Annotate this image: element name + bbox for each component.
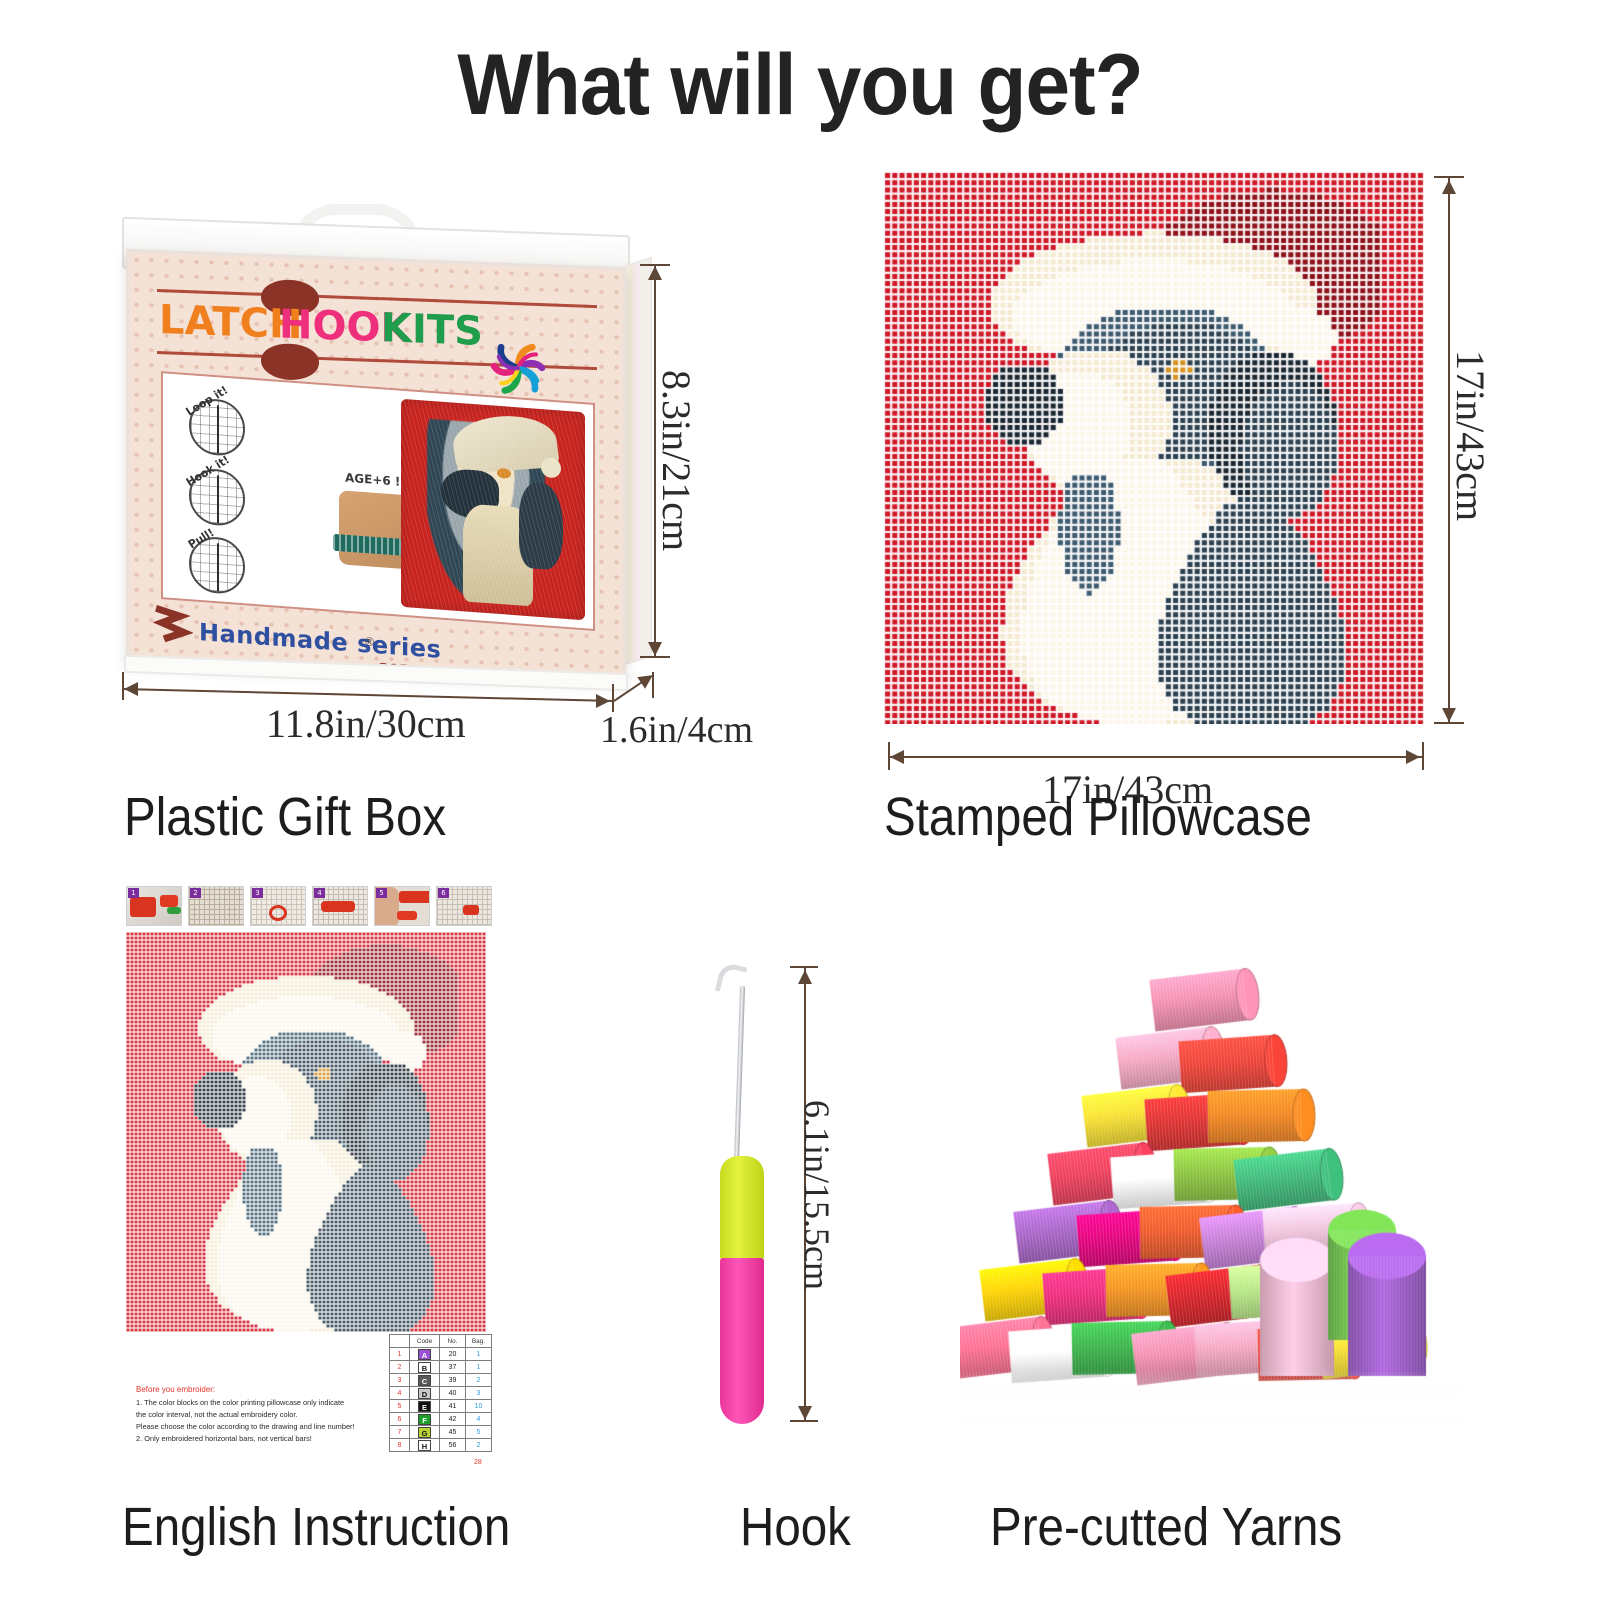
th-index <box>390 1335 410 1348</box>
color-table-row: 4D403 <box>390 1387 492 1400</box>
note-line-3: Please choose the color according to the… <box>136 1422 355 1431</box>
thumb-badge-1: 1 <box>128 888 139 898</box>
instruction-caption: English Instruction <box>122 1496 510 1558</box>
giftbox-width-arrow-right <box>596 694 610 708</box>
giftbox-height-arrow-down <box>648 642 662 656</box>
instruction-chart-canvas <box>126 932 486 1332</box>
row-no: 45 <box>440 1426 466 1439</box>
row-bag: 3 <box>466 1387 492 1400</box>
row-code: H <box>410 1439 440 1452</box>
instruction-thumb-4: 4 <box>312 886 368 926</box>
color-table-row: 6F424 <box>390 1413 492 1426</box>
row-bag: 10 <box>466 1400 492 1413</box>
hook-needle <box>734 986 745 1164</box>
color-swatch: A <box>418 1349 431 1360</box>
row-no: 40 <box>440 1387 466 1400</box>
thumb-badge-3: 3 <box>252 888 263 898</box>
gift-box-panel: LATCH HOOK KITS <box>108 196 653 696</box>
instruction-thumb-6: 6 <box>436 886 492 926</box>
row-bag: 1 <box>466 1348 492 1361</box>
hook-dim-tick-bottom <box>790 1420 818 1422</box>
row-bag: 2 <box>466 1374 492 1387</box>
pillow-width-line <box>888 756 1422 758</box>
yarns-caption: Pre-cutted Yarns <box>990 1496 1342 1558</box>
color-table-row: 1A201 <box>390 1348 492 1361</box>
thumb-badge-5: 5 <box>376 888 387 898</box>
pillowcase-caption: Stamped Pillowcase <box>884 786 1312 848</box>
row-index: 4 <box>390 1387 410 1400</box>
row-code: C <box>410 1374 440 1387</box>
pillow-width-arrow-left <box>890 750 904 764</box>
giftbox-height-arrow-up <box>648 266 662 280</box>
row-bag: 1 <box>466 1361 492 1374</box>
pillow-height-label: 17in/43cm <box>1447 350 1494 521</box>
row-index: 8 <box>390 1439 410 1452</box>
finished-pillow-artwork <box>401 399 585 620</box>
hook-dim-arrow-down <box>798 1406 812 1420</box>
row-index: 7 <box>390 1426 410 1439</box>
pillow-width-tick-right <box>1422 742 1424 770</box>
giftbox-width-label: 11.8in/30cm <box>266 700 466 747</box>
row-index: 5 <box>390 1400 410 1413</box>
row-index: 1 <box>390 1348 410 1361</box>
color-swatch: E <box>418 1401 431 1412</box>
english-instruction-panel: 1 2 3 4 5 6 <box>124 886 496 1466</box>
instruction-thumb-2: 2 <box>188 886 244 926</box>
row-code: D <box>410 1387 440 1400</box>
registered-mark: ® <box>365 634 374 649</box>
color-table-row: 8H562 <box>390 1439 492 1452</box>
box-front-face: LATCH HOOK KITS <box>126 249 626 679</box>
color-table-row: 5E4110 <box>390 1400 492 1413</box>
pillow-height-arrow-down <box>1442 708 1456 722</box>
th-no: No. <box>440 1335 466 1348</box>
instruction-thumb-3: 3 <box>250 886 306 926</box>
color-swatch: C <box>418 1375 431 1386</box>
thumb-badge-2: 2 <box>190 888 201 898</box>
row-index: 6 <box>390 1413 410 1426</box>
instruction-thumb-5: 5 <box>374 886 430 926</box>
row-index: 3 <box>390 1374 410 1387</box>
th-code: Code <box>410 1335 440 1348</box>
row-code: A <box>410 1348 440 1361</box>
color-swatch: G <box>418 1427 431 1438</box>
row-no: 39 <box>440 1374 466 1387</box>
stamped-pillowcase-canvas <box>884 172 1424 724</box>
color-table-total: 28 <box>474 1459 482 1466</box>
row-bag: 4 <box>466 1413 492 1426</box>
color-table-row: 2B371 <box>390 1361 492 1374</box>
row-no: 42 <box>440 1413 466 1426</box>
hook-dim-label: 6.1in/15.5cm <box>796 1100 838 1290</box>
pillow-width-arrow-right <box>1406 750 1420 764</box>
row-index: 2 <box>390 1361 410 1374</box>
instruction-thumb-1: 1 <box>126 886 182 926</box>
giftbox-height-label: 8.3in/21cm <box>653 370 700 551</box>
color-code-table: Code No. Bag. 1A2012B3713C3924D4035E4110… <box>389 1334 492 1452</box>
hook-handle-lower <box>720 1258 764 1424</box>
row-code: B <box>410 1361 440 1374</box>
page-title: What will you get? <box>56 36 1544 135</box>
row-code: G <box>410 1426 440 1439</box>
box-illustration-panel: Loop it! Hook it! Pull! AGE+6 ! <box>161 371 595 631</box>
row-no: 41 <box>440 1400 466 1413</box>
age-label: AGE+6 ! <box>345 471 400 489</box>
row-bag: 5 <box>466 1426 492 1439</box>
note-line-2: the color interval, not the actual embro… <box>136 1410 297 1419</box>
row-bag: 2 <box>466 1439 492 1452</box>
row-code: E <box>410 1400 440 1413</box>
note-heading: Before you embroider: <box>136 1384 386 1397</box>
color-swatch: H <box>418 1440 431 1451</box>
infographic-page: What will you get? LATCH HOOK KITS <box>0 0 1600 1600</box>
instruction-note: Before you embroider: 1. The color block… <box>136 1384 386 1445</box>
color-swatch: B <box>418 1362 431 1373</box>
note-line-4: 2. Only embroidered horizontal bars, not… <box>136 1434 312 1443</box>
row-no: 37 <box>440 1361 466 1374</box>
th-bag: Bag. <box>466 1335 492 1348</box>
pillow-height-arrow-up <box>1442 180 1456 194</box>
note-line-1: 1. The color blocks on the color printin… <box>136 1398 344 1407</box>
thumb-badge-4: 4 <box>314 888 325 898</box>
hook-handle-upper <box>720 1156 764 1260</box>
gift-box-caption: Plastic Gift Box <box>124 786 446 848</box>
row-code: F <box>410 1413 440 1426</box>
color-table-row: 7G455 <box>390 1426 492 1439</box>
row-no: 20 <box>440 1348 466 1361</box>
brand-word-kits: KITS <box>381 305 483 355</box>
hook-caption: Hook <box>740 1496 851 1558</box>
pinwheel-logo-icon <box>487 337 549 399</box>
thumb-badge-6: 6 <box>438 888 449 898</box>
color-swatch: F <box>418 1414 431 1425</box>
giftbox-height-tick-bottom <box>640 656 670 658</box>
giftbox-width-arrow-left <box>124 682 138 696</box>
color-swatch: D <box>418 1388 431 1399</box>
giftbox-depth-label: 1.6in/4cm <box>600 708 753 752</box>
table-header-row: Code No. Bag. <box>390 1335 492 1348</box>
row-no: 56 <box>440 1439 466 1452</box>
yarn-panel <box>960 930 1460 1430</box>
zigzag-arrow-icon <box>151 604 193 647</box>
pillow-height-tick-bottom <box>1434 722 1464 724</box>
color-table-row: 3C392 <box>390 1374 492 1387</box>
hook-dim-arrow-up <box>798 970 812 984</box>
